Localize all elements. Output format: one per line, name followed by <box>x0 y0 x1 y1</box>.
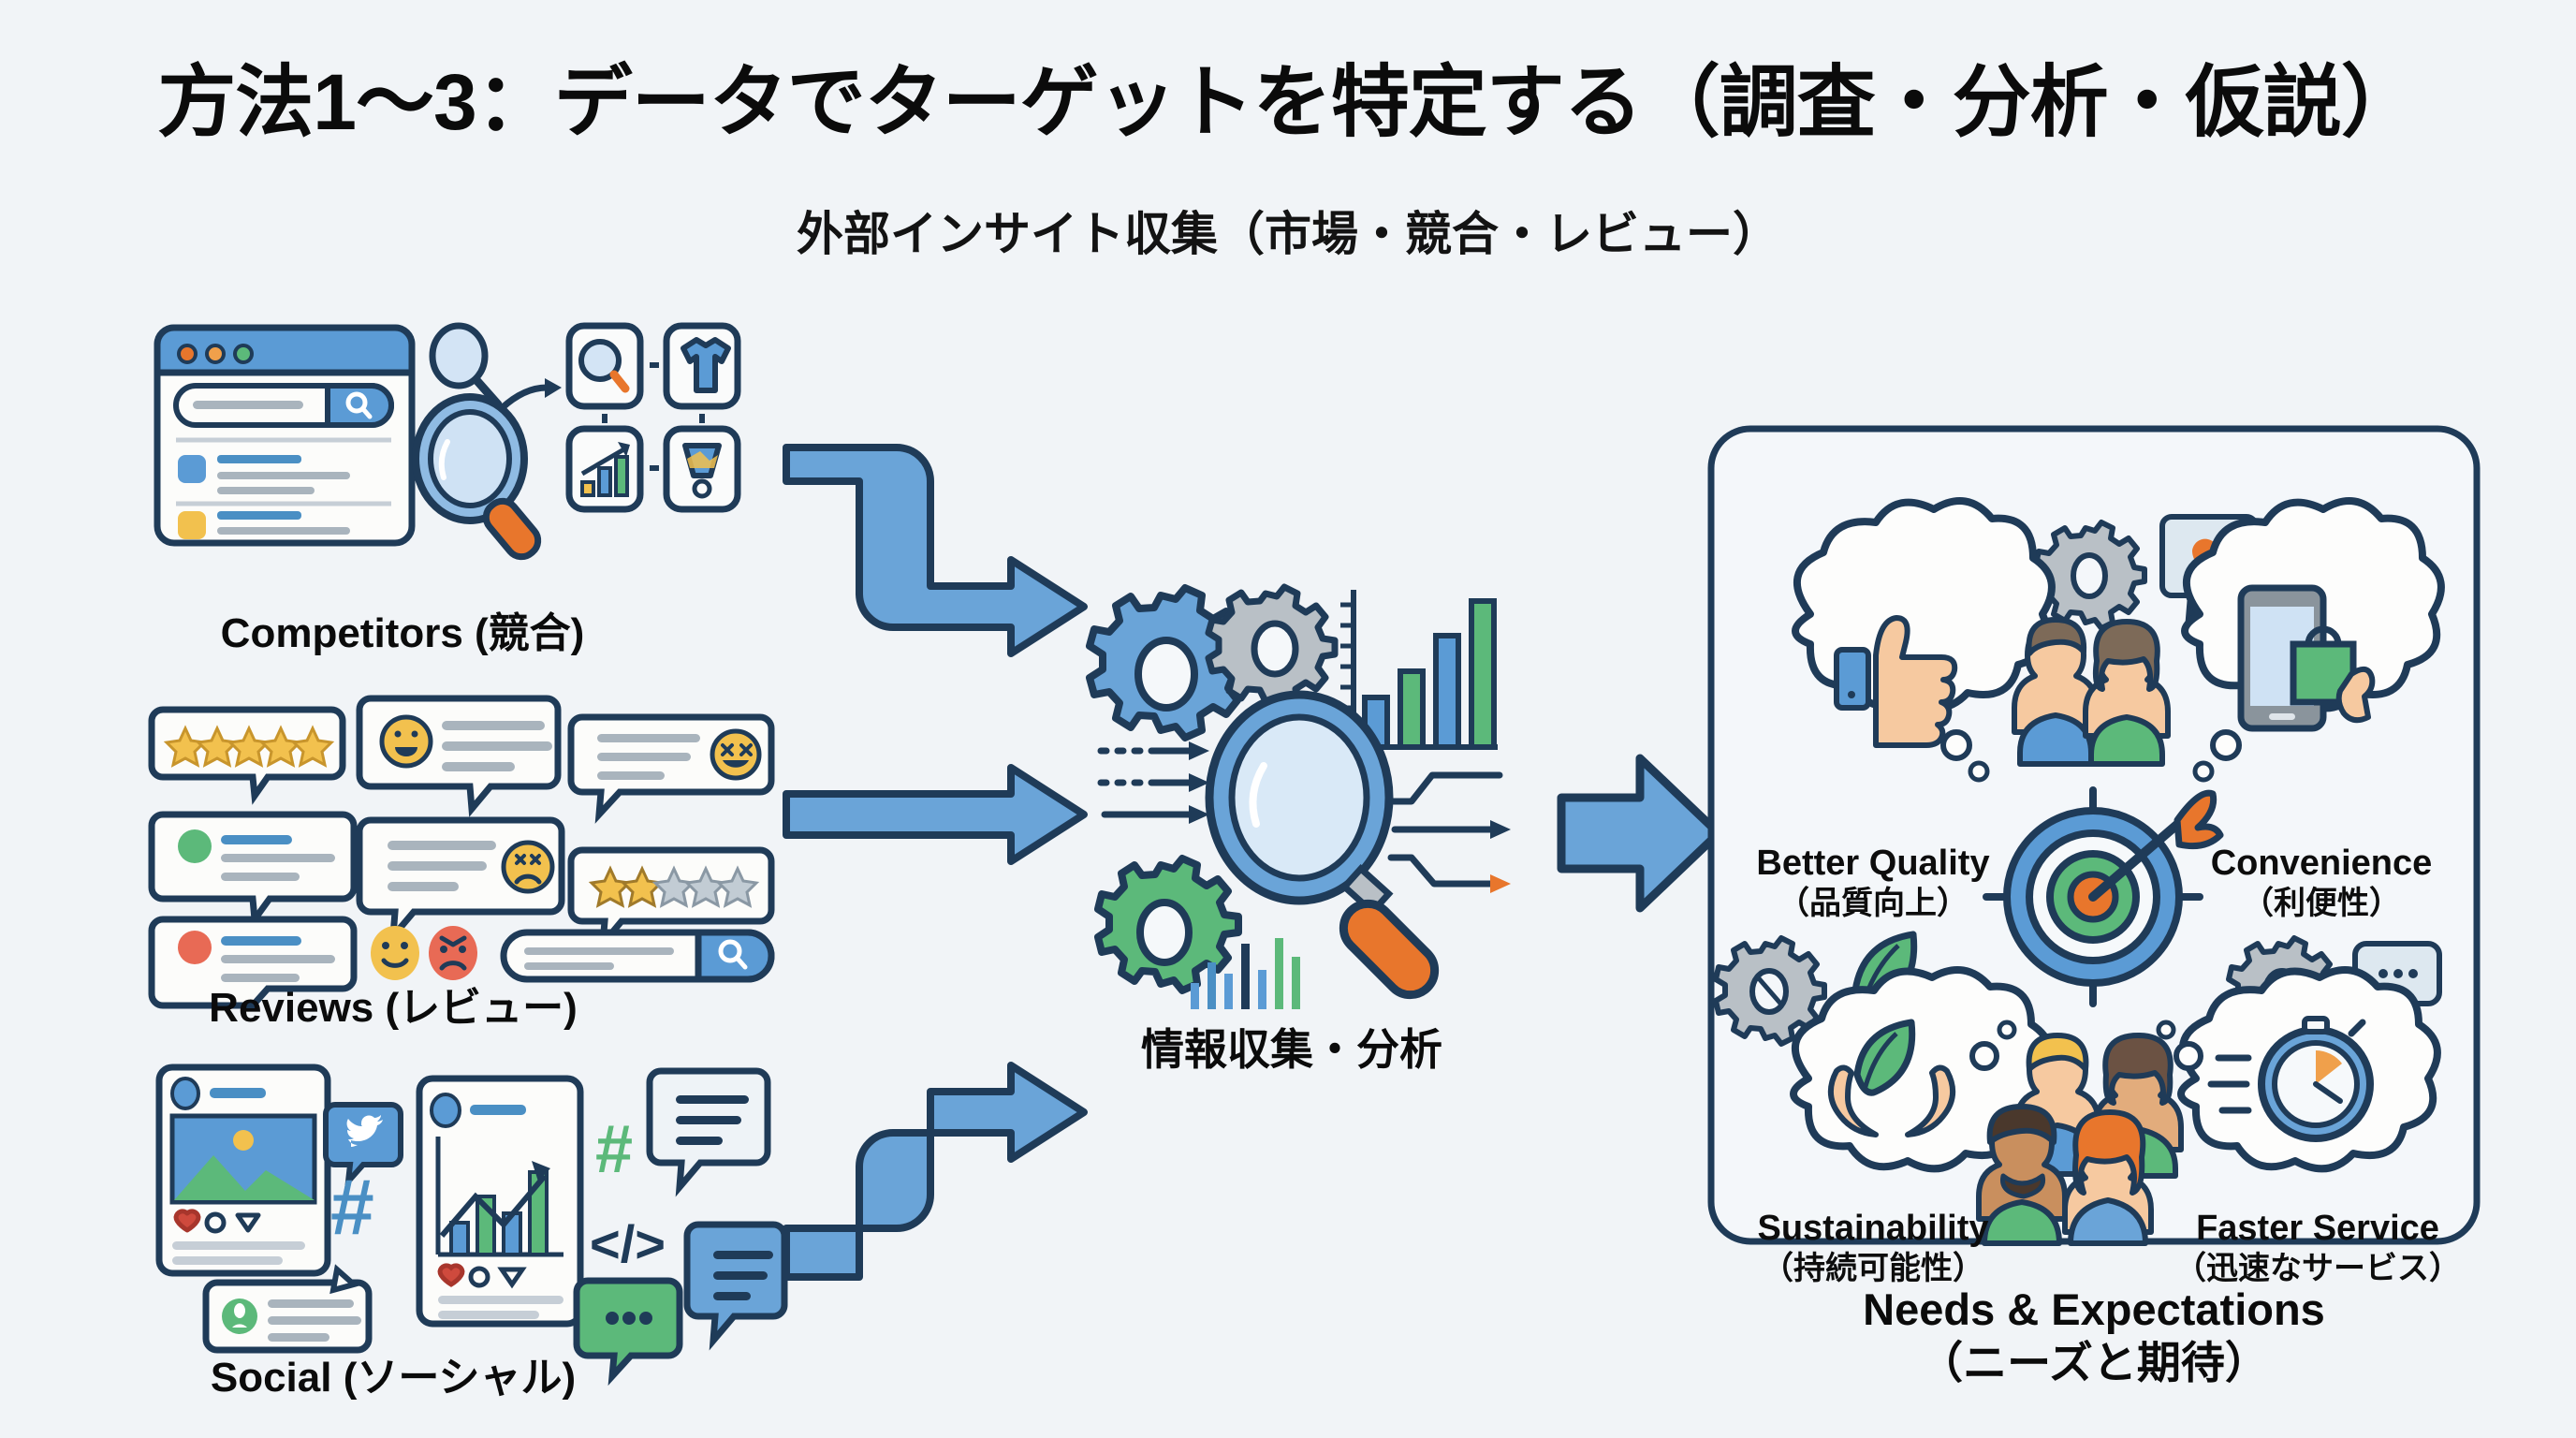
thought-dot-icon <box>2159 1022 2173 1037</box>
thought-dot-icon <box>2213 732 2239 758</box>
competitors-illustration <box>150 318 768 562</box>
smile-face-icon <box>371 926 419 980</box>
code-tag-icon: </> <box>590 1214 666 1273</box>
review-search-bar-icon <box>504 932 771 979</box>
page-subtitle: 外部インサイト収集（市場・競合・レビュー） <box>0 197 2576 264</box>
need-label-en: Sustainability <box>1757 1209 1988 1248</box>
competitors-to-analysis-arrow <box>786 448 1084 653</box>
need-label-jp: （利便性） <box>2162 885 2481 922</box>
need-label-faster-service: Faster Service （迅速なサービス） <box>2149 1208 2486 1287</box>
angry-face-icon <box>429 926 477 980</box>
outbound-flow-arrows-icon <box>1391 775 1500 884</box>
process-label: 情報収集・分析 <box>1030 1016 1554 1078</box>
competitor-card-tshirt <box>666 326 738 406</box>
social-illustration: # <box>140 1058 777 1367</box>
thought-dot-icon <box>2195 763 2212 780</box>
browser-window-icon <box>157 328 412 543</box>
need-label-jp: （持続可能性） <box>1709 1250 2037 1287</box>
reviews-illustration <box>150 693 786 974</box>
chat-bubble-outline-icon <box>650 1071 768 1187</box>
inbound-flow-arrows-icon <box>1101 751 1191 814</box>
happy-review-bubble-icon <box>359 698 558 809</box>
needs-expectations-panel <box>1705 423 2482 1247</box>
star-rating-bubble-icon <box>152 710 343 796</box>
need-label-en: Convenience <box>2211 844 2433 883</box>
gray-gear-icon <box>1208 587 1335 708</box>
need-label-jp: （品質向上） <box>1719 885 2027 922</box>
competitor-card-chart <box>569 429 640 509</box>
curved-arrow-icon <box>502 378 562 408</box>
need-label-en: Better Quality <box>1756 844 1989 883</box>
need-label-jp: （迅速なサービス） <box>2149 1250 2486 1287</box>
thought-dot-icon <box>1970 763 1987 780</box>
hashtag-icon: # <box>595 1112 633 1187</box>
outbound-arrowheads-icon <box>1490 820 1511 893</box>
analysis-illustration <box>1067 580 1554 1030</box>
reviews-to-analysis-arrow <box>786 768 1084 861</box>
competitor-card-funnel <box>666 429 738 509</box>
need-label-sustainability: Sustainability （持続可能性） <box>1709 1208 2037 1287</box>
source-label-reviews: Reviews (レビュー) <box>103 974 683 1034</box>
laughing-review-bubble-icon <box>571 717 771 814</box>
large-magnifier-icon <box>416 397 544 563</box>
outcome-caption-jp: （ニーズと期待） <box>1705 1336 2482 1389</box>
competitor-card-magnifier <box>569 326 640 406</box>
need-label-en: Faster Service <box>2196 1209 2439 1248</box>
small-magnifier-icon <box>432 326 498 404</box>
need-label-better-quality: Better Quality （品質向上） <box>1719 843 2027 922</box>
social-post-card-icon <box>159 1067 328 1273</box>
green-gear-icon <box>1098 858 1238 990</box>
hashtag-icon: # <box>330 1163 374 1251</box>
page-title: 方法1〜3：データでターゲットを特定する（調査・分析・仮説） <box>0 39 2576 153</box>
outcome-caption: Needs & Expectations （ニーズと期待） <box>1705 1283 2482 1390</box>
source-label-social: Social (ソーシャル) <box>103 1343 683 1403</box>
stopwatch-cloud-icon <box>2181 970 2437 1168</box>
review-card-green-icon <box>152 814 354 919</box>
outcome-caption-en: Needs & Expectations <box>1705 1283 2482 1336</box>
social-comment-bubble-icon <box>206 1269 369 1350</box>
source-label-competitors: Competitors (競合) <box>112 599 693 659</box>
social-analytics-card-icon <box>419 1078 580 1324</box>
thought-dot-icon <box>2176 1044 2201 1068</box>
need-label-convenience: Convenience （利便性） <box>2162 843 2481 922</box>
thought-dot-icon <box>1999 1022 2014 1037</box>
diagram-canvas: 方法1〜3：データでターゲットを特定する（調査・分析・仮説） 外部インサイト収集… <box>0 0 2576 1438</box>
social-to-analysis-arrow <box>786 1065 1084 1277</box>
thought-dot-icon <box>1972 1044 1997 1068</box>
thought-dot-icon <box>1943 732 1969 758</box>
sad-review-bubble-icon <box>359 820 562 936</box>
